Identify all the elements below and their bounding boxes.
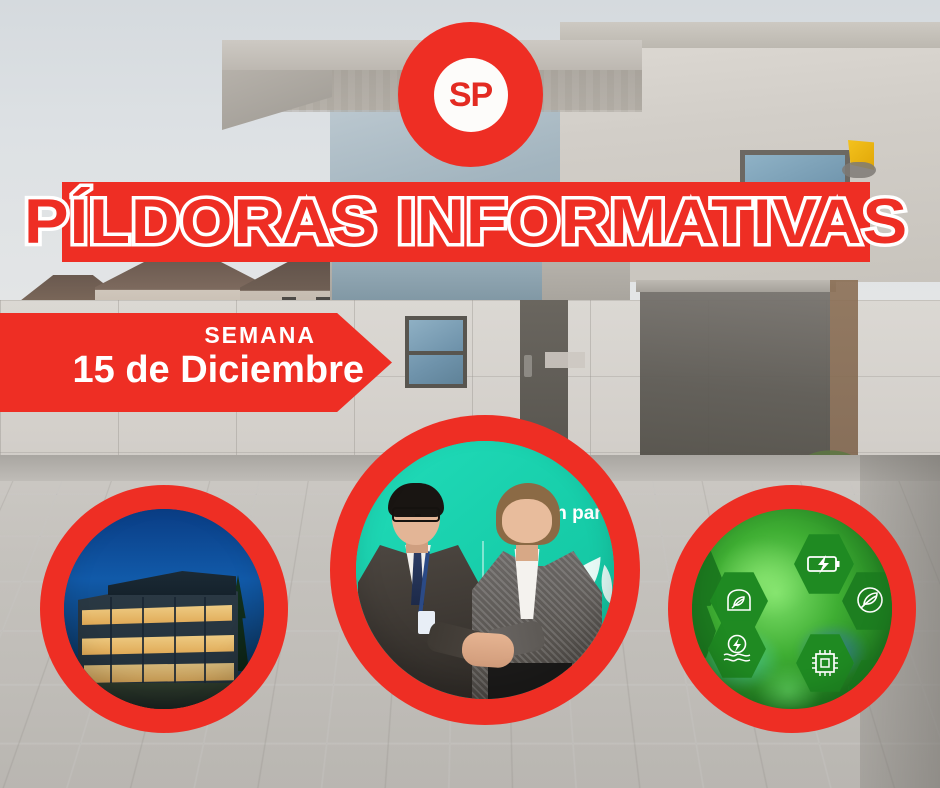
photo-handshake: n part: [356, 441, 614, 699]
week-label: SEMANA: [204, 322, 316, 349]
building-lawn: [64, 683, 264, 709]
photo-circle-green-tech: [668, 485, 916, 733]
window-band-3: [84, 663, 234, 683]
photo-green-tech: [692, 509, 892, 709]
window-mullion: [174, 597, 176, 691]
window-mullion: [110, 597, 112, 691]
entry-recess-lip: [636, 280, 836, 292]
sp-logo-text: SP: [449, 78, 492, 112]
photo-circle-handshake: n part: [330, 415, 640, 725]
photo-circle-building: [40, 485, 288, 733]
man-glasses: [392, 507, 440, 522]
week-date: 15 de Diciembre: [73, 349, 364, 392]
sp-logo: SP: [398, 22, 543, 167]
yellow-accent-shadow: [842, 162, 876, 178]
title-banner: PÍLDORAS INFORMATIVAS: [62, 182, 870, 262]
entry-recess: [640, 285, 830, 460]
woman-trousers: [488, 663, 572, 699]
page-title: PÍLDORAS INFORMATIVAS: [24, 191, 908, 254]
sp-logo-inner-circle: SP: [434, 58, 508, 132]
window-mullion: [142, 597, 144, 691]
handshake-hands: [461, 631, 515, 669]
poster-canvas: SP PÍLDORAS INFORMATIVAS SEMANA 15 de Di…: [0, 0, 940, 788]
photo-building: [64, 509, 264, 709]
backdrop-text: n part: [555, 503, 608, 525]
door-sign-plate: [545, 352, 585, 368]
window-mullion: [204, 597, 206, 691]
door-handle: [524, 355, 532, 377]
woman-neck: [516, 545, 538, 561]
woman-face: [502, 499, 552, 543]
facade-window: [405, 316, 467, 388]
date-banner: SEMANA 15 de Diciembre: [0, 313, 392, 412]
